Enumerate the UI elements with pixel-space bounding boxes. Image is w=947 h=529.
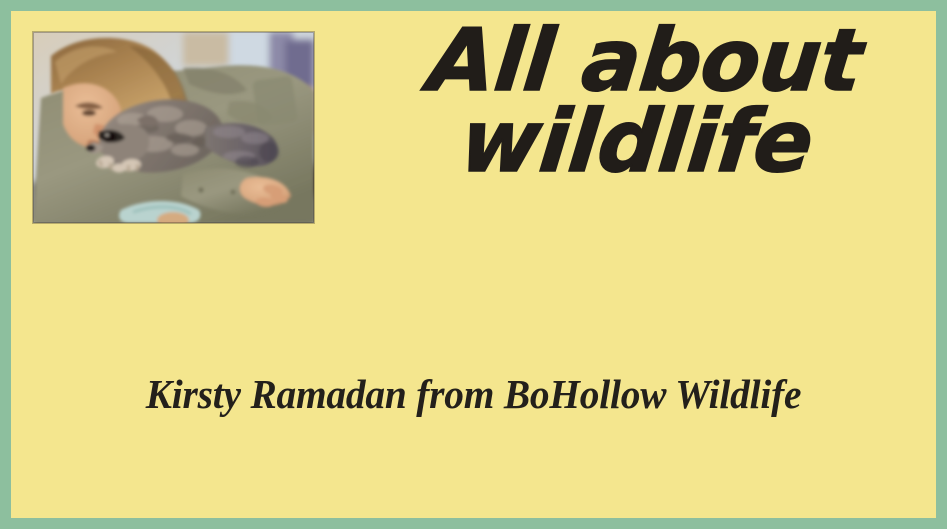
wildlife-rescuer-photo	[33, 32, 314, 223]
intro-blurb-line-1: Kirsty Ramadan from BoHollow Wildlife	[43, 368, 904, 420]
page-title: All about wildlife	[332, 19, 936, 185]
all-about-wildlife-banner: All about wildlife Kirsty Ramadan from B…	[0, 0, 947, 529]
intro-blurb: Kirsty Ramadan from BoHollow Wildlife is…	[43, 263, 904, 518]
page-title-line-2: wildlife	[332, 100, 936, 185]
banner-card: All about wildlife Kirsty Ramadan from B…	[11, 11, 936, 518]
